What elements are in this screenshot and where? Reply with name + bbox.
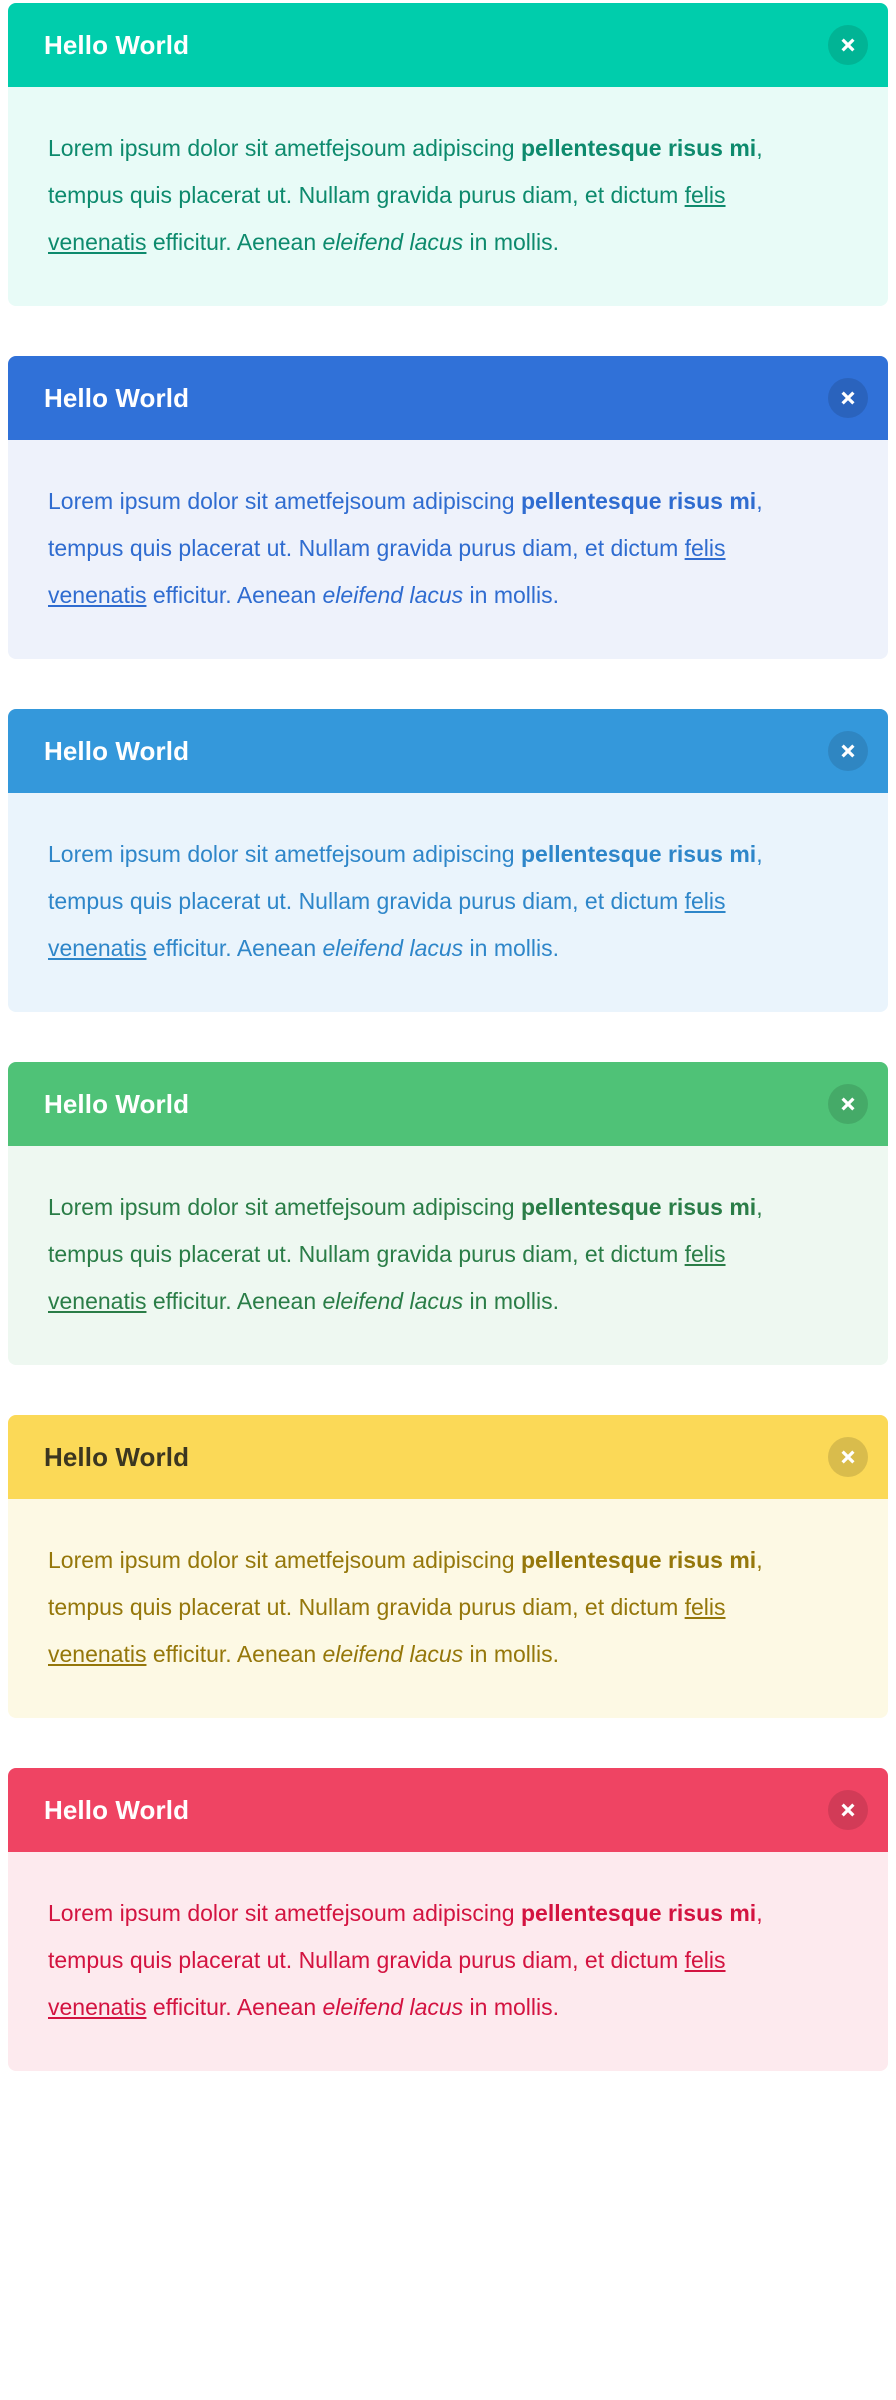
body-text-lead: Lorem ipsum dolor sit ametfejsoum adipis… xyxy=(48,841,521,867)
body-text-after-link: efficitur. Aenean xyxy=(146,1641,322,1667)
alert-card-yellow: Hello World Lorem ipsum dolor sit ametfe… xyxy=(8,1415,888,1718)
alert-body-teal: Lorem ipsum dolor sit ametfejsoum adipis… xyxy=(8,87,888,306)
body-text-tail: in mollis. xyxy=(463,229,559,255)
close-button[interactable] xyxy=(828,1084,868,1124)
alert-body-paragraph: Lorem ipsum dolor sit ametfejsoum adipis… xyxy=(48,478,808,619)
alert-body-yellow: Lorem ipsum dolor sit ametfejsoum adipis… xyxy=(8,1499,888,1718)
body-text-after-link: efficitur. Aenean xyxy=(146,935,322,961)
body-text-bold: pellentesque risus mi xyxy=(521,1547,756,1573)
body-text-italic: eleifend lacus xyxy=(323,1641,464,1667)
alert-body-green: Lorem ipsum dolor sit ametfejsoum adipis… xyxy=(8,1146,888,1365)
body-text-italic: eleifend lacus xyxy=(323,1288,464,1314)
alert-header-teal: Hello World xyxy=(8,3,888,87)
body-text-italic: eleifend lacus xyxy=(323,229,464,255)
body-text-tail: in mollis. xyxy=(463,1288,559,1314)
alert-title: Hello World xyxy=(44,385,189,411)
alert-body-paragraph: Lorem ipsum dolor sit ametfejsoum adipis… xyxy=(48,1184,808,1325)
body-text-tail: in mollis. xyxy=(463,935,559,961)
close-button[interactable] xyxy=(828,1790,868,1830)
body-text-lead: Lorem ipsum dolor sit ametfejsoum adipis… xyxy=(48,488,521,514)
body-text-italic: eleifend lacus xyxy=(323,935,464,961)
alert-title: Hello World xyxy=(44,32,189,58)
alert-body-lightblue: Lorem ipsum dolor sit ametfejsoum adipis… xyxy=(8,793,888,1012)
body-text-lead: Lorem ipsum dolor sit ametfejsoum adipis… xyxy=(48,1900,521,1926)
alert-body-paragraph: Lorem ipsum dolor sit ametfejsoum adipis… xyxy=(48,831,808,972)
close-icon xyxy=(839,1448,857,1466)
close-button[interactable] xyxy=(828,378,868,418)
alert-header-yellow: Hello World xyxy=(8,1415,888,1499)
alert-card-green: Hello World Lorem ipsum dolor sit ametfe… xyxy=(8,1062,888,1365)
body-text-italic: eleifend lacus xyxy=(323,1994,464,2020)
body-text-bold: pellentesque risus mi xyxy=(521,488,756,514)
alert-body-paragraph: Lorem ipsum dolor sit ametfejsoum adipis… xyxy=(48,1537,808,1678)
body-text-bold: pellentesque risus mi xyxy=(521,135,756,161)
body-text-tail: in mollis. xyxy=(463,582,559,608)
alert-list: Hello World Lorem ipsum dolor sit ametfe… xyxy=(0,3,896,2071)
alert-header-green: Hello World xyxy=(8,1062,888,1146)
body-text-bold: pellentesque risus mi xyxy=(521,1900,756,1926)
body-text-lead: Lorem ipsum dolor sit ametfejsoum adipis… xyxy=(48,1547,521,1573)
alert-title: Hello World xyxy=(44,738,189,764)
close-button[interactable] xyxy=(828,25,868,65)
alert-header-lightblue: Hello World xyxy=(8,709,888,793)
alert-body-blue: Lorem ipsum dolor sit ametfejsoum adipis… xyxy=(8,440,888,659)
alert-body-red: Lorem ipsum dolor sit ametfejsoum adipis… xyxy=(8,1852,888,2071)
alert-header-blue: Hello World xyxy=(8,356,888,440)
alert-title: Hello World xyxy=(44,1797,189,1823)
body-text-after-link: efficitur. Aenean xyxy=(146,1288,322,1314)
close-button[interactable] xyxy=(828,731,868,771)
close-icon xyxy=(839,1801,857,1819)
close-button[interactable] xyxy=(828,1437,868,1477)
alert-body-paragraph: Lorem ipsum dolor sit ametfejsoum adipis… xyxy=(48,125,808,266)
alert-body-paragraph: Lorem ipsum dolor sit ametfejsoum adipis… xyxy=(48,1890,808,2031)
alert-title: Hello World xyxy=(44,1444,189,1470)
body-text-lead: Lorem ipsum dolor sit ametfejsoum adipis… xyxy=(48,1194,521,1220)
body-text-after-link: efficitur. Aenean xyxy=(146,582,322,608)
alert-card-blue: Hello World Lorem ipsum dolor sit ametfe… xyxy=(8,356,888,659)
body-text-tail: in mollis. xyxy=(463,1641,559,1667)
body-text-italic: eleifend lacus xyxy=(323,582,464,608)
body-text-bold: pellentesque risus mi xyxy=(521,1194,756,1220)
close-icon xyxy=(839,742,857,760)
close-icon xyxy=(839,1095,857,1113)
body-text-bold: pellentesque risus mi xyxy=(521,841,756,867)
alert-card-teal: Hello World Lorem ipsum dolor sit ametfe… xyxy=(8,3,888,306)
body-text-after-link: efficitur. Aenean xyxy=(146,1994,322,2020)
body-text-lead: Lorem ipsum dolor sit ametfejsoum adipis… xyxy=(48,135,521,161)
body-text-tail: in mollis. xyxy=(463,1994,559,2020)
alert-title: Hello World xyxy=(44,1091,189,1117)
close-icon xyxy=(839,389,857,407)
alert-card-red: Hello World Lorem ipsum dolor sit ametfe… xyxy=(8,1768,888,2071)
alert-card-lightblue: Hello World Lorem ipsum dolor sit ametfe… xyxy=(8,709,888,1012)
body-text-after-link: efficitur. Aenean xyxy=(146,229,322,255)
close-icon xyxy=(839,36,857,54)
alert-header-red: Hello World xyxy=(8,1768,888,1852)
